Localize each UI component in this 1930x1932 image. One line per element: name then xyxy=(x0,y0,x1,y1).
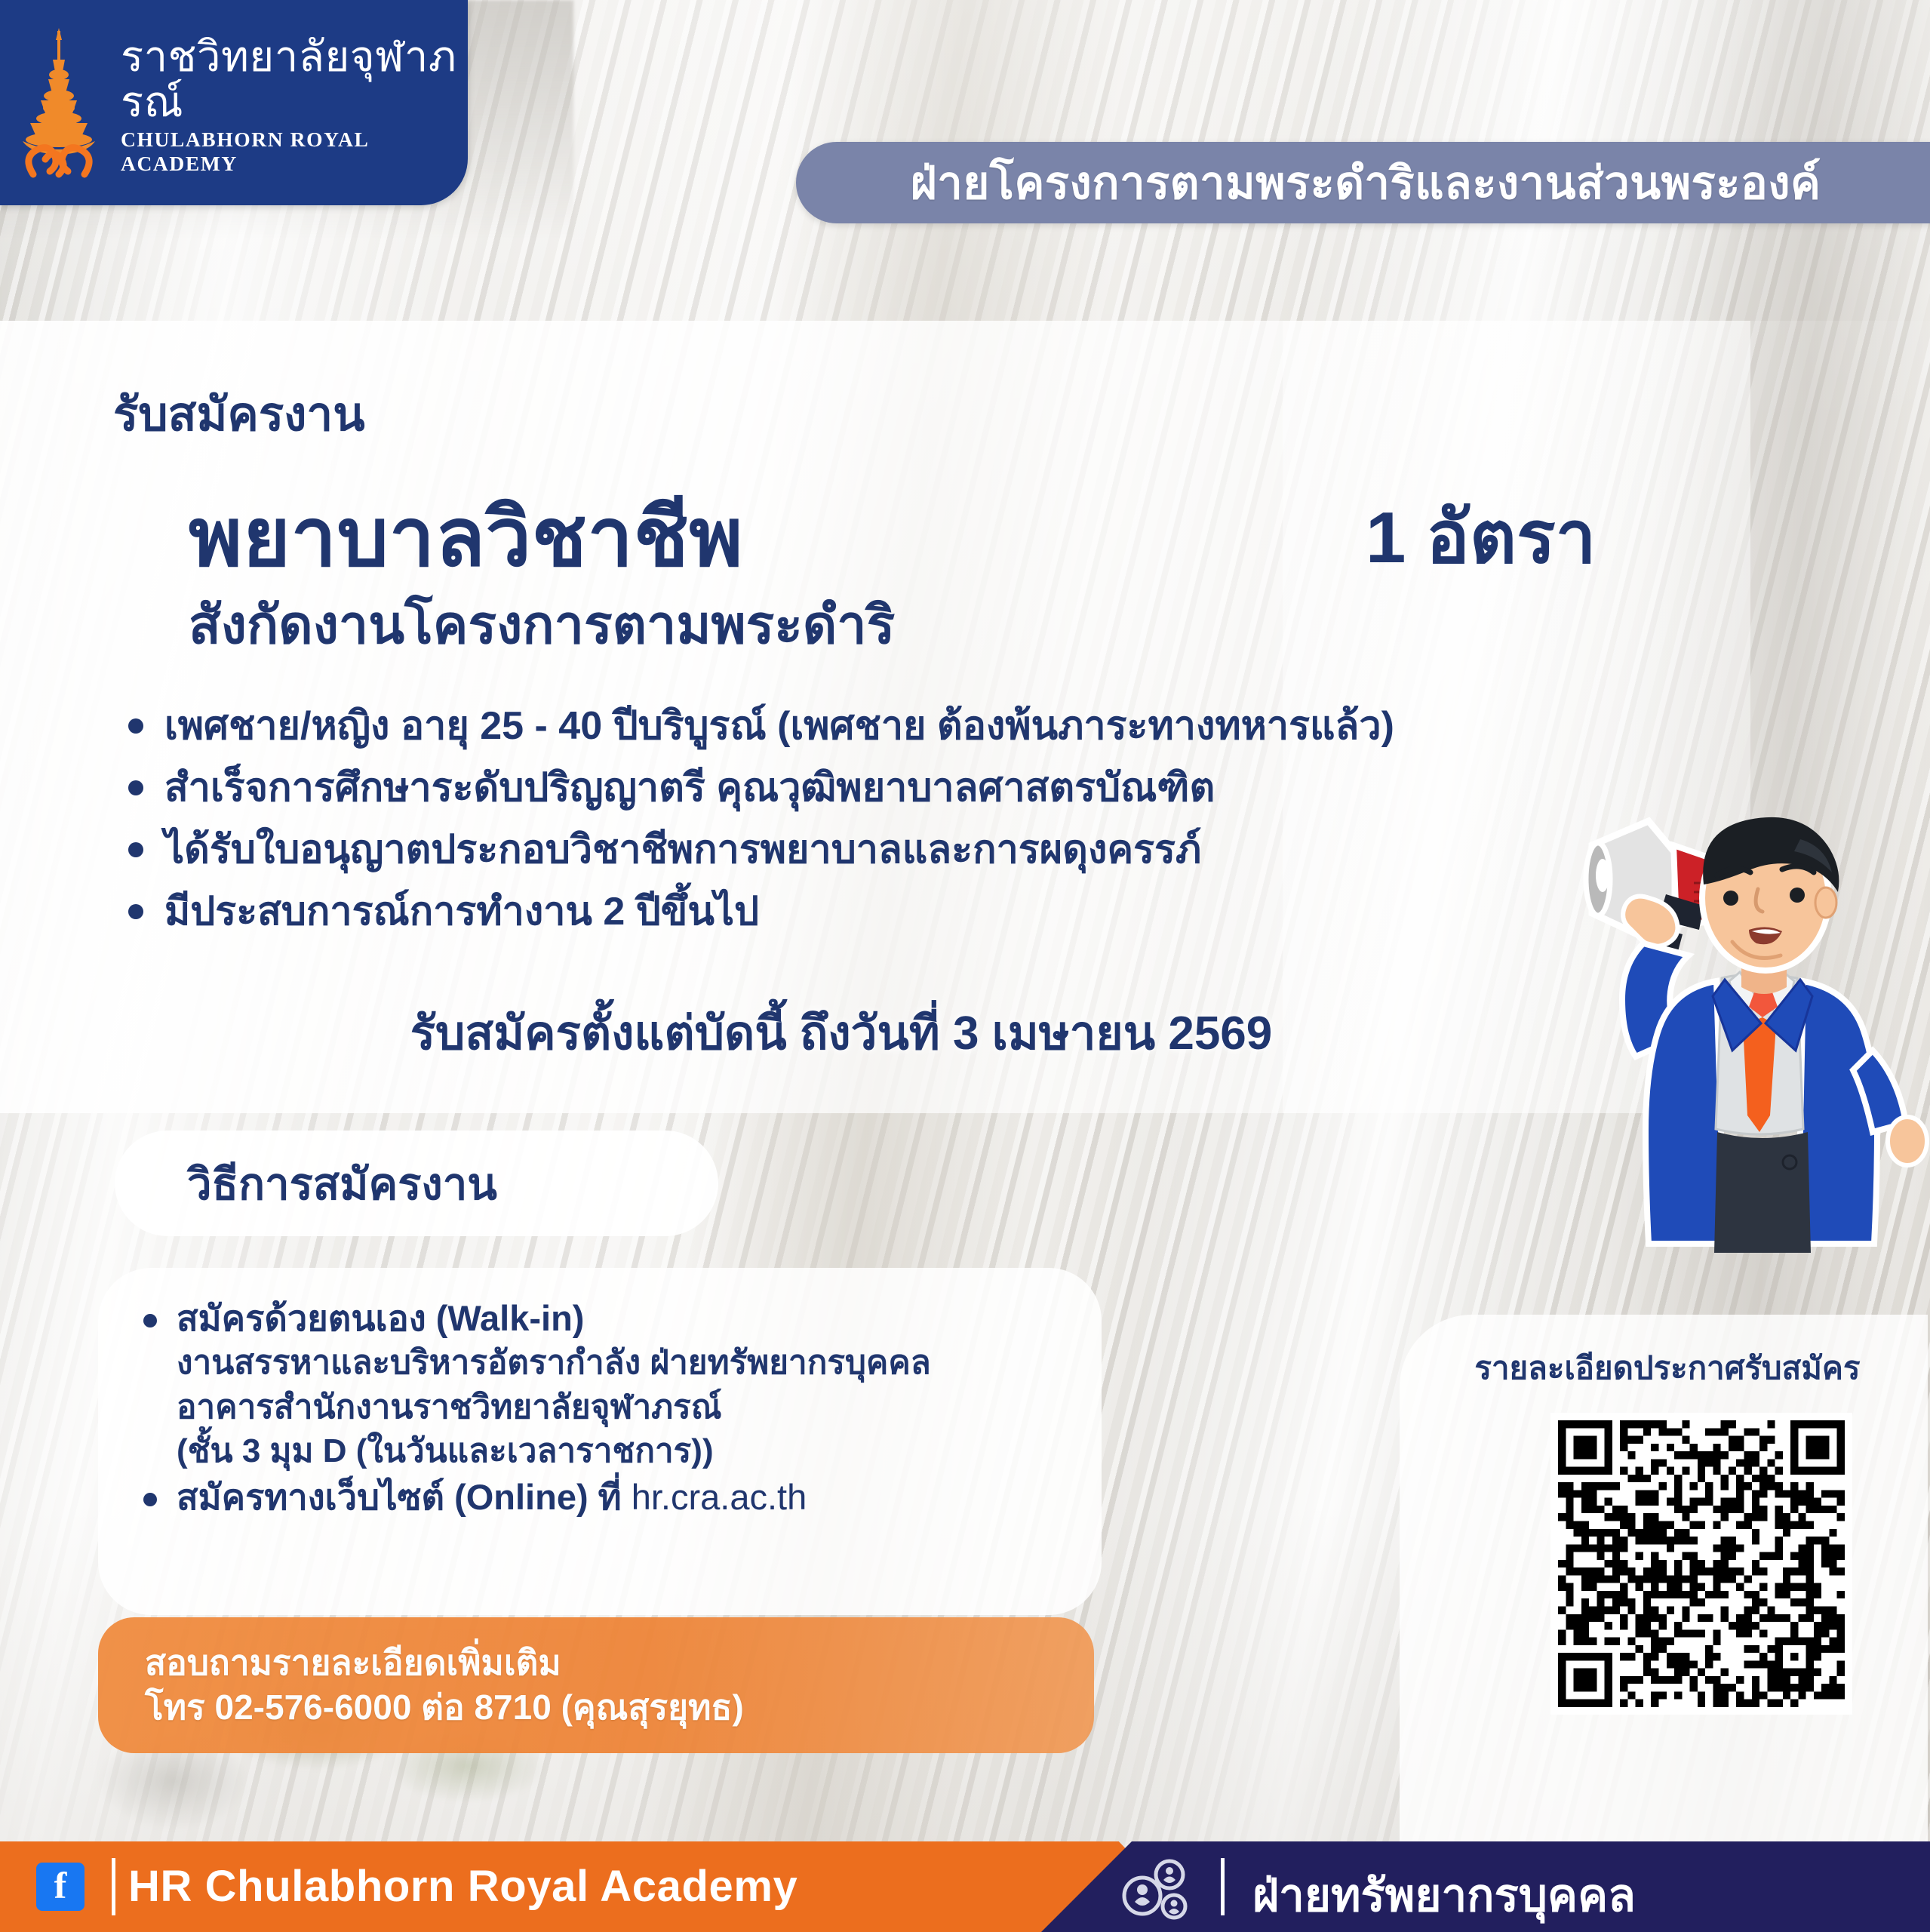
footer: f HR Chulabhorn Royal Academy ฝ่ายทรัพยา… xyxy=(0,1841,1930,1932)
how-to-apply-heading: วิธีการสมัครงาน xyxy=(187,1149,497,1219)
application-deadline: รับสมัครตั้งแต่บัดนี้ ถึงวันที่ 3 เมษายน… xyxy=(0,996,1683,1070)
bullet-dot-icon xyxy=(128,904,143,919)
facebook-page-name[interactable]: HR Chulabhorn Royal Academy xyxy=(128,1861,798,1912)
qualification-text: ได้รับใบอนุญาตประกอบวิชาชีพการพยาบาลและก… xyxy=(164,826,1201,875)
walkin-address-line: อาคารสำนักงานราชวิทยาลัยจุฬาภรณ์ xyxy=(177,1386,1102,1430)
qualification-item: สำเร็จการศึกษาระดับปริญญาตรี คุณวุฒิพยาบ… xyxy=(128,764,1728,813)
walkin-address-line: งานสรรหาและบริหารอัตรากำลัง ฝ่ายทรัพยากร… xyxy=(177,1341,1102,1386)
bullet-dot-icon xyxy=(128,842,143,857)
announcement-kicker: รับสมัครงาน xyxy=(113,377,365,451)
contact-box: สอบถามรายละเอียดเพิ่มเติม โทร 02-576-600… xyxy=(98,1617,1094,1753)
qualification-text: เพศชาย/หญิง อายุ 25 - 40 ปีบริบูรณ์ (เพศ… xyxy=(164,702,1394,751)
apply-method-walkin: สมัครด้วยตนเอง (Walk-in) xyxy=(143,1295,1102,1341)
bullet-dot-icon xyxy=(143,1314,157,1327)
facebook-icon[interactable]: f xyxy=(36,1863,85,1911)
openings-count: 1 อัตรา xyxy=(1366,480,1597,595)
qualification-item: เพศชาย/หญิง อายุ 25 - 40 ปีบริบูรณ์ (เพศ… xyxy=(128,702,1728,751)
org-name-th: ราชวิทยาลัยจุฬาภรณ์ xyxy=(121,34,468,125)
footer-divider-right xyxy=(1221,1858,1225,1915)
people-group-icon xyxy=(1117,1857,1200,1920)
qualification-item: มีประสบการณ์การทำงาน 2 ปีขึ้นไป xyxy=(128,888,1728,937)
organization-logo-block: ราชวิทยาลัยจุฬาภรณ์ CHULABHORN ROYAL ACA… xyxy=(0,0,468,205)
qualification-item: ได้รับใบอนุญาตประกอบวิชาชีพการพยาบาลและก… xyxy=(128,826,1728,875)
org-name-en: CHULABHORN ROYAL ACADEMY xyxy=(121,128,468,176)
bullet-dot-icon xyxy=(128,718,143,734)
hr-department-label: ฝ่ายทรัพยากรบุคคล xyxy=(1252,1860,1636,1931)
contact-heading: สอบถามรายละเอียดเพิ่มเติม xyxy=(145,1641,1094,1685)
qualification-text: สำเร็จการศึกษาระดับปริญญาตรี คุณวุฒิพยาบ… xyxy=(164,764,1215,813)
qr-code-icon[interactable] xyxy=(1550,1413,1852,1715)
department-banner: ฝ่ายโครงการตามพระดำริและงานส่วนพระองค์ xyxy=(796,142,1930,223)
walkin-label: สมัครด้วยตนเอง (Walk-in) xyxy=(177,1295,584,1341)
department-banner-label: ฝ่ายโครงการตามพระดำริและงานส่วนพระองค์ xyxy=(911,147,1821,219)
qualifications-list: เพศชาย/หญิง อายุ 25 - 40 ปีบริบูรณ์ (เพศ… xyxy=(128,702,1728,949)
bullet-dot-icon xyxy=(128,780,143,795)
bullet-dot-icon xyxy=(143,1493,157,1506)
online-label: สมัครทางเว็บไซต์ (Online) ที่ xyxy=(177,1477,632,1517)
walkin-address-line: (ชั้น 3 มุม D (ในวันและเวลาราชการ)) xyxy=(177,1429,1102,1474)
apply-method-online[interactable]: สมัครทางเว็บไซต์ (Online) ที่ hr.cra.ac.… xyxy=(143,1474,1102,1520)
footer-divider-left xyxy=(112,1858,115,1915)
job-announcement-poster: ราชวิทยาลัยจุฬาภรณ์ CHULABHORN ROYAL ACA… xyxy=(0,0,1930,1932)
royal-crest-icon xyxy=(11,26,107,183)
qr-caption: รายละเอียดประกาศรับสมัคร xyxy=(1434,1343,1901,1393)
job-affiliation: สังกัดงานโครงการตามพระดำริ xyxy=(189,583,895,666)
qualification-text: มีประสบการณ์การทำงาน 2 ปีขึ้นไป xyxy=(164,888,759,937)
how-to-apply-heading-pill: วิธีการสมัครงาน xyxy=(115,1131,718,1236)
apply-methods-content: สมัครด้วยตนเอง (Walk-in) งานสรรหาและบริห… xyxy=(143,1295,1102,1520)
online-url[interactable]: hr.cra.ac.th xyxy=(632,1477,807,1517)
megaphone-man-illustration xyxy=(1577,755,1930,1253)
contact-phone: โทร 02-576-6000 ต่อ 8710 (คุณสุรยุทธ) xyxy=(145,1685,1094,1730)
